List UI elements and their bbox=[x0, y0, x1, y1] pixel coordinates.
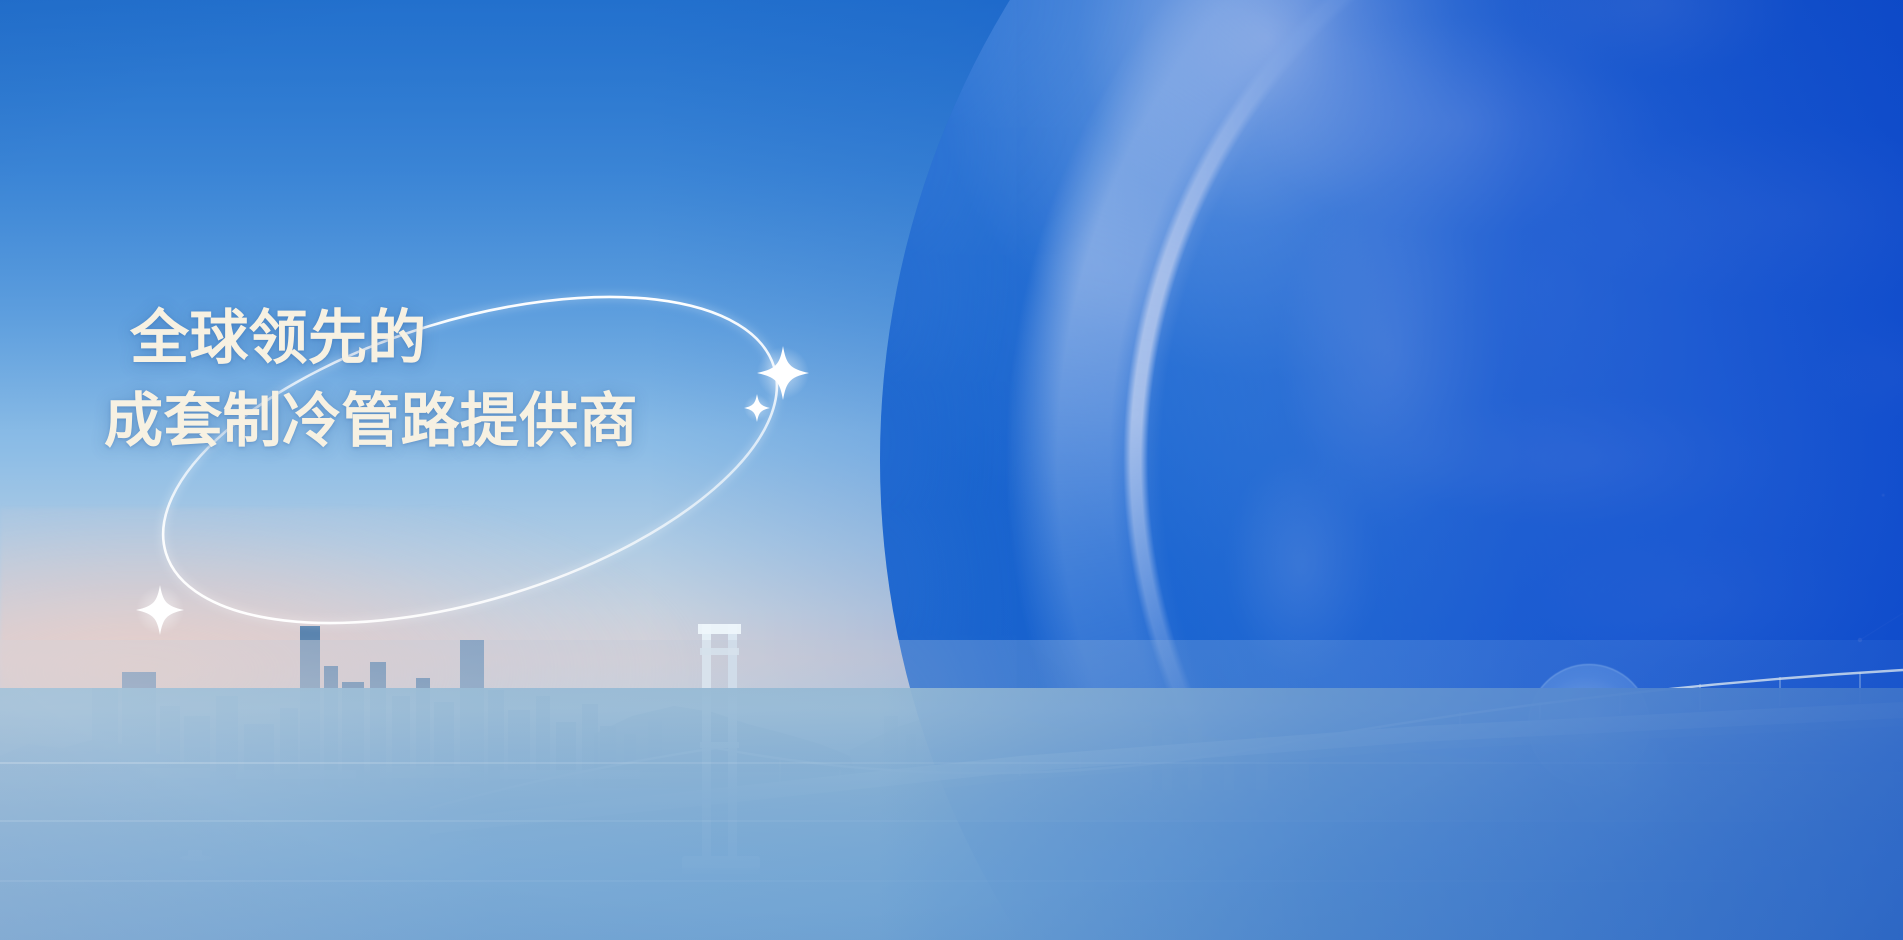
page-title: 全球领先的 成套制冷管路提供商 bbox=[104, 300, 638, 459]
water-highlight-band bbox=[0, 762, 1903, 764]
sea-water-sheen bbox=[0, 688, 1903, 940]
headline-line-2: 成套制冷管路提供商 bbox=[104, 383, 638, 460]
headline-line-1: 全球领先的 bbox=[130, 300, 638, 377]
water-highlight-band bbox=[0, 820, 1903, 822]
water-highlight-band bbox=[0, 880, 1903, 882]
hero-banner: 全球领先的 成套制冷管路提供商 bbox=[0, 0, 1903, 940]
